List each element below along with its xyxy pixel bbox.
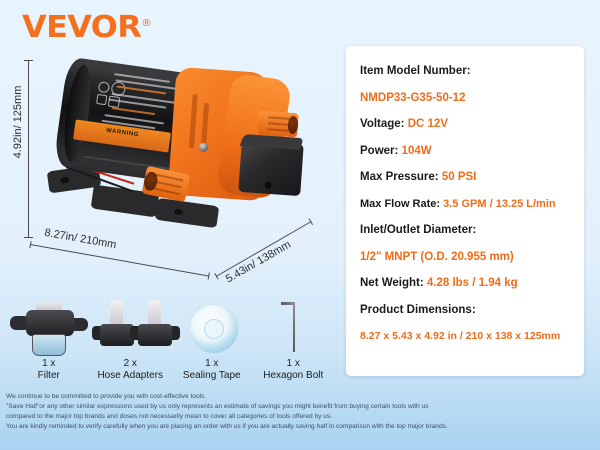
housing-screw — [199, 143, 209, 153]
disclaimer-line-4: You are kindly reminded to verify carefu… — [6, 422, 596, 432]
accessory-hexagon-bolt: 1 x Hexagon Bolt — [253, 296, 335, 388]
accessory-quantity: 1 x — [171, 358, 253, 370]
mounting-foot-right — [155, 198, 219, 228]
pressure-switch-screw — [265, 182, 272, 189]
accessory-name: Hose Adapters — [90, 370, 172, 382]
brand-name: VEVOR — [22, 10, 141, 45]
spec-net-weight-label: Net Weight: — [360, 277, 427, 289]
hose-adapter-icon — [90, 296, 172, 358]
spec-voltage: Voltage: DC 12V — [346, 117, 584, 131]
disclaimer-line-2: "Save Half"or any other similar expressi… — [6, 402, 596, 412]
accessory-quantity: 1 x — [8, 358, 90, 370]
height-dimension-line — [28, 60, 29, 238]
spec-max-flow-label: Max Flow Rate: — [360, 198, 443, 210]
spec-power-value: 104W — [402, 145, 432, 157]
mounting-hole — [60, 177, 70, 184]
width-dimension-line — [30, 244, 209, 277]
spec-max-flow-value: 3.5 GPM / 13.25 L/min — [443, 198, 556, 210]
accessory-name: Sealing Tape — [171, 370, 253, 382]
spec-model-label: Item Model Number: — [346, 64, 584, 78]
vevor-logo: VEVOR® — [22, 10, 151, 45]
sealing-tape-icon — [171, 296, 253, 358]
outlet-port — [257, 111, 299, 138]
spec-net-weight-value: 4.28 lbs / 1.94 kg — [427, 277, 518, 289]
disclaimer-line-3: compared to the major top brands and dos… — [6, 412, 596, 422]
registered-trademark-icon: ® — [141, 18, 151, 29]
spec-model-value: NMDP33-G35-50-12 — [346, 91, 584, 105]
disclaimer-text: We continue to be committed to provide y… — [6, 392, 596, 432]
spec-max-pressure-value: 50 PSI — [442, 171, 477, 183]
accessory-sealing-tape: 1 x Sealing Tape — [171, 296, 253, 388]
spec-product-dimensions-value: 8.27 x 5.43 x 4.92 in / 210 x 138 x 125m… — [346, 329, 584, 343]
water-filter-icon — [8, 296, 90, 358]
height-dimension-label: 4.92in/ 125mm — [12, 68, 24, 176]
accessory-quantity: 2 x — [90, 358, 172, 370]
spec-inlet-value: 1/2" MNPT (O.D. 20.955 mm) — [346, 250, 584, 264]
accessory-name: Hexagon Bolt — [253, 370, 335, 382]
motor-end-cap — [60, 63, 95, 163]
spec-voltage-label: Voltage: — [360, 118, 408, 130]
spec-max-pressure: Max Pressure: 50 PSI — [346, 170, 584, 184]
spec-max-flow: Max Flow Rate: 3.5 GPM / 13.25 L/min — [346, 197, 584, 211]
accessory-hose-adapters: 2 x Hose Adapters — [90, 296, 172, 388]
accessory-quantity: 1 x — [253, 358, 335, 370]
spec-voltage-value: DC 12V — [408, 118, 448, 130]
spec-power-label: Power: — [360, 145, 402, 157]
spec-max-pressure-label: Max Pressure: — [360, 171, 442, 183]
spec-product-dimensions-label: Product Dimensions: — [346, 303, 584, 317]
hexagon-bolt-icon — [253, 296, 335, 358]
depth-dimension-label: 5.43in/ 138mm — [224, 239, 293, 286]
mounting-hole — [174, 208, 184, 215]
specification-panel: Item Model Number: NMDP33-G35-50-12 Volt… — [346, 46, 584, 376]
product-illustration-stage: 4.92in/ 125mm 8.27in/ 210mm 5.43in/ 138m… — [0, 52, 340, 282]
water-pump-product-image: WARNING — [44, 56, 314, 238]
pressure-switch-box — [238, 140, 303, 196]
spec-power: Power: 104W — [346, 144, 584, 158]
spec-net-weight: Net Weight: 4.28 lbs / 1.94 kg — [346, 276, 584, 290]
spec-inlet-label: Inlet/Outlet Diameter: — [346, 223, 584, 237]
included-accessories-row: 1 x Filter 2 x Hose Adapters 1 x — [8, 296, 334, 388]
accessory-filter: 1 x Filter — [8, 296, 90, 388]
accessory-name: Filter — [8, 370, 90, 382]
disclaimer-line-1: We continue to be committed to provide y… — [6, 392, 596, 402]
